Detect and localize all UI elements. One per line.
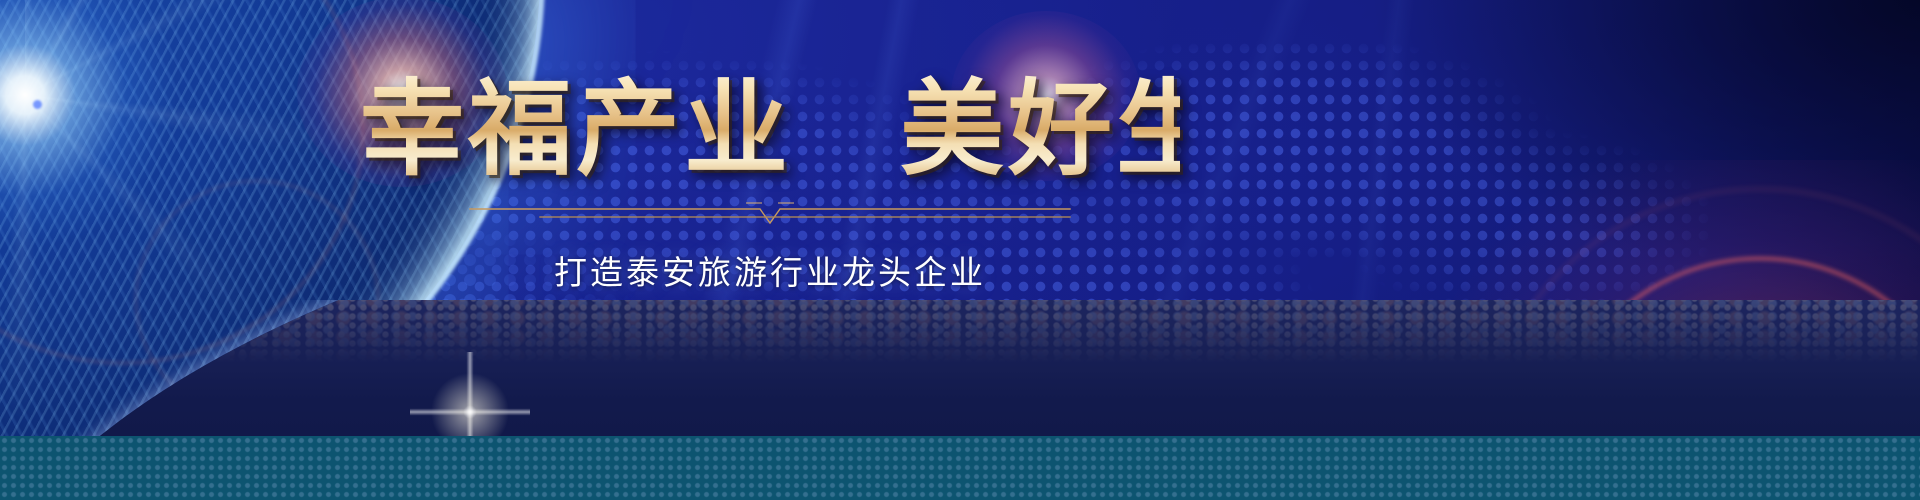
- ornamental-divider: [470, 198, 1070, 232]
- teal-band-dot-texture: [0, 436, 1920, 500]
- lens-flare-dot: [33, 100, 42, 109]
- hero-banner: 幸福产业 美好生活 打造泰安旅游行业龙头企业: [0, 0, 1920, 500]
- divider-upper-rule: [470, 209, 1070, 223]
- banner-headline: 幸福产业 美好生活: [360, 72, 1180, 188]
- bottom-teal-band: [0, 436, 1920, 500]
- banner-subtitle: 打造泰安旅游行业龙头企业: [0, 246, 1540, 294]
